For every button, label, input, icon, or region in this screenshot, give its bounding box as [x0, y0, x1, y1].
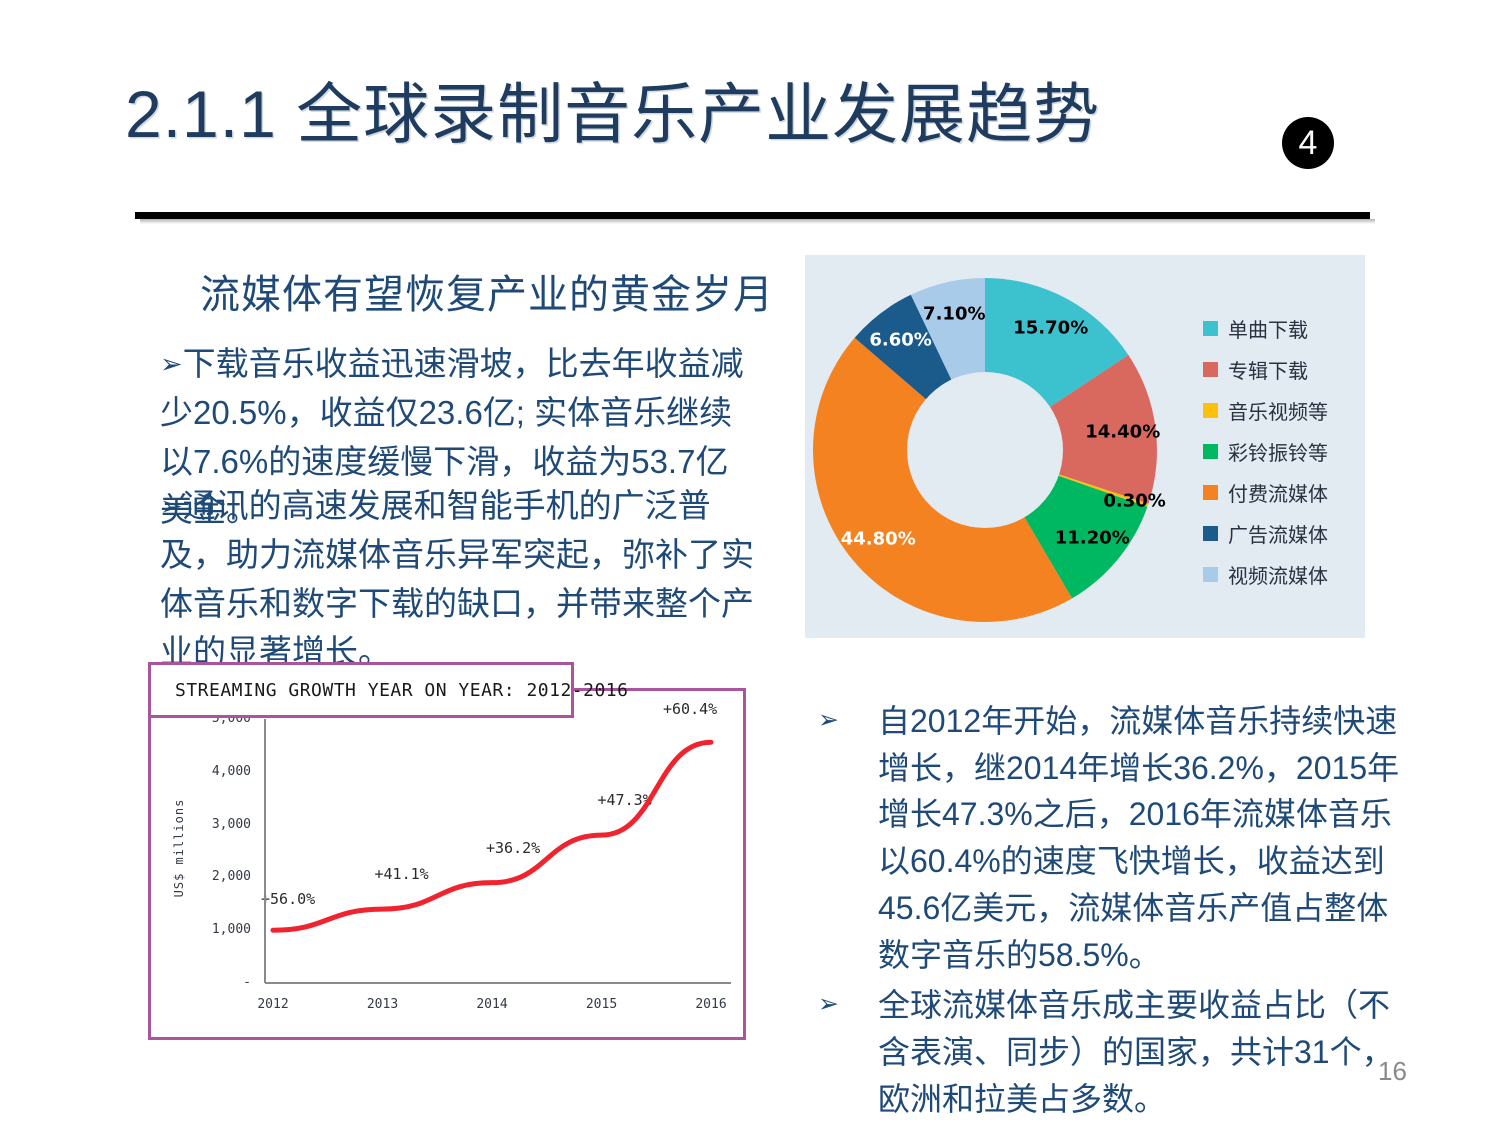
legend-item[interactable]: 专辑下载	[1203, 349, 1328, 390]
legend-label: 专辑下载	[1228, 355, 1308, 384]
donut-slice-value-label: 7.10%	[923, 304, 985, 325]
legend-swatch-icon	[1203, 485, 1218, 500]
bullet-arrow-icon: ➢	[160, 491, 183, 522]
legend-item[interactable]: 付费流媒体	[1203, 472, 1328, 513]
donut-slice-value-label: 14.40%	[1085, 421, 1160, 442]
line-chart-title: STREAMING GROWTH YEAR ON YEAR: 2012-2016	[175, 680, 628, 701]
legend-item[interactable]: 彩铃振铃等	[1203, 431, 1328, 472]
legend-item[interactable]: 视频流媒体	[1203, 554, 1328, 595]
right-bullet-2: ➢全球流媒体音乐成主要收益占比（不含表演、同步）的国家，共计31个，欧洲和拉美占…	[818, 982, 1408, 1122]
legend-swatch-icon	[1203, 321, 1218, 336]
donut-slice-value-label: 15.70%	[1013, 317, 1088, 338]
left-bullet-2-text: 通讯的高速发展和智能手机的广泛普及，助力流媒体音乐异军突起，弥补了实体音乐和数字…	[160, 487, 754, 670]
legend-label: 音乐视频等	[1228, 396, 1328, 425]
donut-hole	[907, 372, 1063, 528]
slide-root: 2.1.1 全球录制音乐产业发展趋势 4 流媒体有望恢复产业的黄金岁月 ➢下载音…	[0, 0, 1500, 1125]
title-divider-shadow	[140, 219, 1375, 224]
page-title: 2.1.1 全球录制音乐产业发展趋势	[125, 78, 1100, 151]
bullet-arrow-icon: ➢	[818, 698, 878, 978]
legend-label: 视频流媒体	[1228, 560, 1328, 589]
donut-legend: 单曲下载专辑下载音乐视频等彩铃振铃等付费流媒体广告流媒体视频流媒体	[1203, 308, 1328, 595]
legend-label: 付费流媒体	[1228, 478, 1328, 507]
legend-item[interactable]: 广告流媒体	[1203, 513, 1328, 554]
donut-slice-value-label: 0.30%	[1103, 490, 1165, 511]
legend-item[interactable]: 音乐视频等	[1203, 390, 1328, 431]
legend-label: 广告流媒体	[1228, 519, 1328, 548]
lead-heading: 流媒体有望恢复产业的黄金岁月	[200, 262, 774, 320]
bullet-arrow-icon: ➢	[160, 349, 183, 380]
left-bullet-2: ➢通讯的高速发展和智能手机的广泛普及，助力流媒体音乐异军突起，弥补了实体音乐和数…	[160, 482, 760, 677]
line-chart-inner: US$ millions -1,0002,0003,0004,0005,000 …	[151, 691, 743, 1037]
line-chart-title-box: STREAMING GROWTH YEAR ON YEAR: 2012-2016	[148, 662, 574, 718]
line-chart-plot	[151, 691, 743, 1037]
page-number: 16	[1378, 1056, 1407, 1087]
legend-label: 单曲下载	[1228, 314, 1308, 343]
legend-swatch-icon	[1203, 444, 1218, 459]
right-bullet-2-text: 全球流媒体音乐成主要收益占比（不含表演、同步）的国家，共计31个，欧洲和拉美占多…	[878, 982, 1408, 1122]
line-chart-panel: US$ millions -1,0002,0003,0004,0005,000 …	[148, 688, 746, 1040]
legend-label: 彩铃振铃等	[1228, 437, 1328, 466]
donut-chart-panel: 15.70%14.40%0.30%11.20%44.80%6.60%7.10% …	[805, 255, 1365, 638]
line-series-path	[273, 742, 711, 930]
right-bullet-list: ➢自2012年开始，流媒体音乐持续快速增长，继2014年增长36.2%，2015…	[818, 698, 1408, 1125]
right-bullet-1: ➢自2012年开始，流媒体音乐持续快速增长，继2014年增长36.2%，2015…	[818, 698, 1408, 978]
donut-slice-value-label: 6.60%	[869, 329, 931, 350]
legend-item[interactable]: 单曲下载	[1203, 308, 1328, 349]
right-bullet-1-text: 自2012年开始，流媒体音乐持续快速增长，继2014年增长36.2%，2015年…	[878, 698, 1408, 978]
legend-swatch-icon	[1203, 403, 1218, 418]
donut-slice-value-label: 11.20%	[1055, 528, 1130, 549]
donut-slice-value-label: 44.80%	[841, 529, 916, 550]
legend-swatch-icon	[1203, 567, 1218, 582]
bullet-arrow-icon: ➢	[818, 982, 878, 1122]
section-number-badge: 4	[1282, 117, 1334, 169]
title-divider	[135, 212, 1370, 219]
legend-swatch-icon	[1203, 362, 1218, 377]
legend-swatch-icon	[1203, 526, 1218, 541]
